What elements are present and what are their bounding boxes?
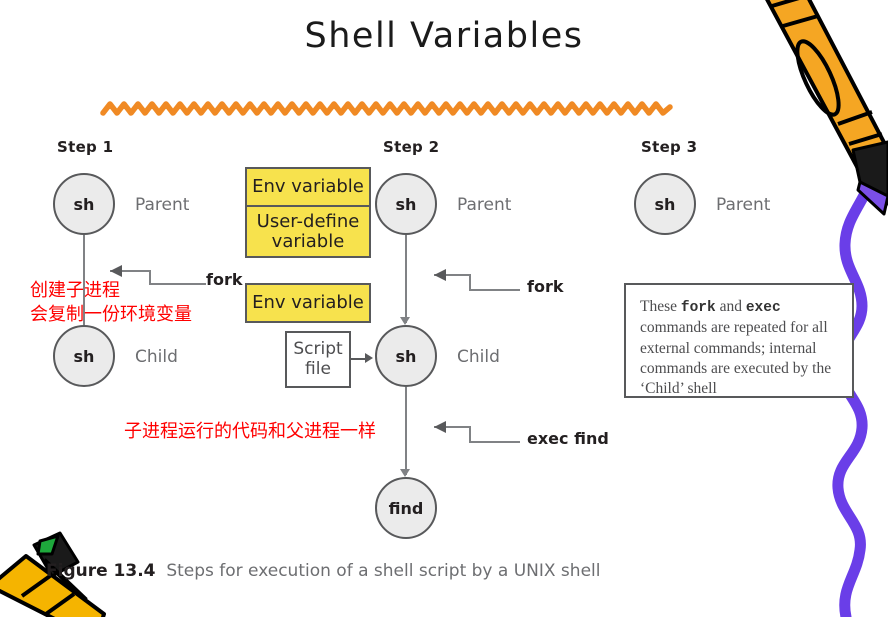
annotation-child-same-code: 子进程运行的代码和父进程一样: [124, 420, 376, 444]
note-box: These fork and exec commands are repeate…: [624, 283, 854, 398]
node-step1-child-sh: sh: [53, 325, 115, 387]
slide-canvas: Shell Variables: [0, 0, 888, 617]
annotation-create-child-process: 创建子进程 会复制一份环境变量: [30, 279, 192, 328]
note-box-text: These fork and exec commands are repeate…: [640, 298, 831, 397]
node-step2-parent-sh: sh: [375, 173, 437, 235]
step-1-header: Step 1: [57, 138, 113, 156]
arrow-down-icon-step2-b: [400, 469, 410, 477]
node-step2-find: find: [375, 477, 437, 539]
fork-label-step1: fork: [206, 270, 242, 289]
user-define-variable-box: User-define variable: [245, 206, 371, 258]
figure-caption-label: Figure 13.4: [46, 561, 156, 581]
exec-find-label-step2: exec find: [527, 429, 609, 448]
node-step3-parent-sh: sh: [634, 173, 696, 235]
step-2-header: Step 2: [383, 138, 439, 156]
role-label-step2-parent: Parent: [457, 195, 511, 215]
figure-caption-text: Steps for execution of a shell script by…: [166, 561, 600, 581]
figure-caption: Figure 13.4 Steps for execution of a she…: [46, 561, 600, 581]
script-file-line1: Script: [293, 339, 342, 359]
connector-step2-child-to-find: [405, 387, 407, 475]
zigzag-divider-icon: [103, 104, 670, 113]
script-file-arrowhead-icon: [365, 353, 373, 363]
script-file-label: Scriptfile: [293, 340, 342, 378]
connector-step2-parent-to-child: [405, 235, 407, 323]
step-3-header: Step 3: [641, 138, 697, 156]
script-file-line2: file: [305, 359, 331, 379]
exec-connector-step2: [434, 421, 520, 442]
role-label-step1-child: Child: [135, 347, 178, 367]
role-label-step1-parent: Parent: [135, 195, 189, 215]
fork-label-step2: fork: [527, 277, 563, 296]
node-step2-child-sh: sh: [375, 325, 437, 387]
env-variable-box-bottom: Env variable: [245, 283, 371, 323]
fork-connector-step2: [434, 269, 520, 290]
node-step1-parent-sh: sh: [53, 173, 115, 235]
script-file-box: Scriptfile: [285, 331, 351, 388]
role-label-step3-parent: Parent: [716, 195, 770, 215]
note-box-exec-keyword: exec: [746, 300, 781, 316]
role-label-step2-child: Child: [457, 347, 500, 367]
arrow-down-icon-step2-a: [400, 317, 410, 325]
env-variable-box-top: Env variable: [245, 167, 371, 207]
page-title: Shell Variables: [0, 16, 888, 56]
note-box-fork-keyword: fork: [681, 300, 716, 316]
